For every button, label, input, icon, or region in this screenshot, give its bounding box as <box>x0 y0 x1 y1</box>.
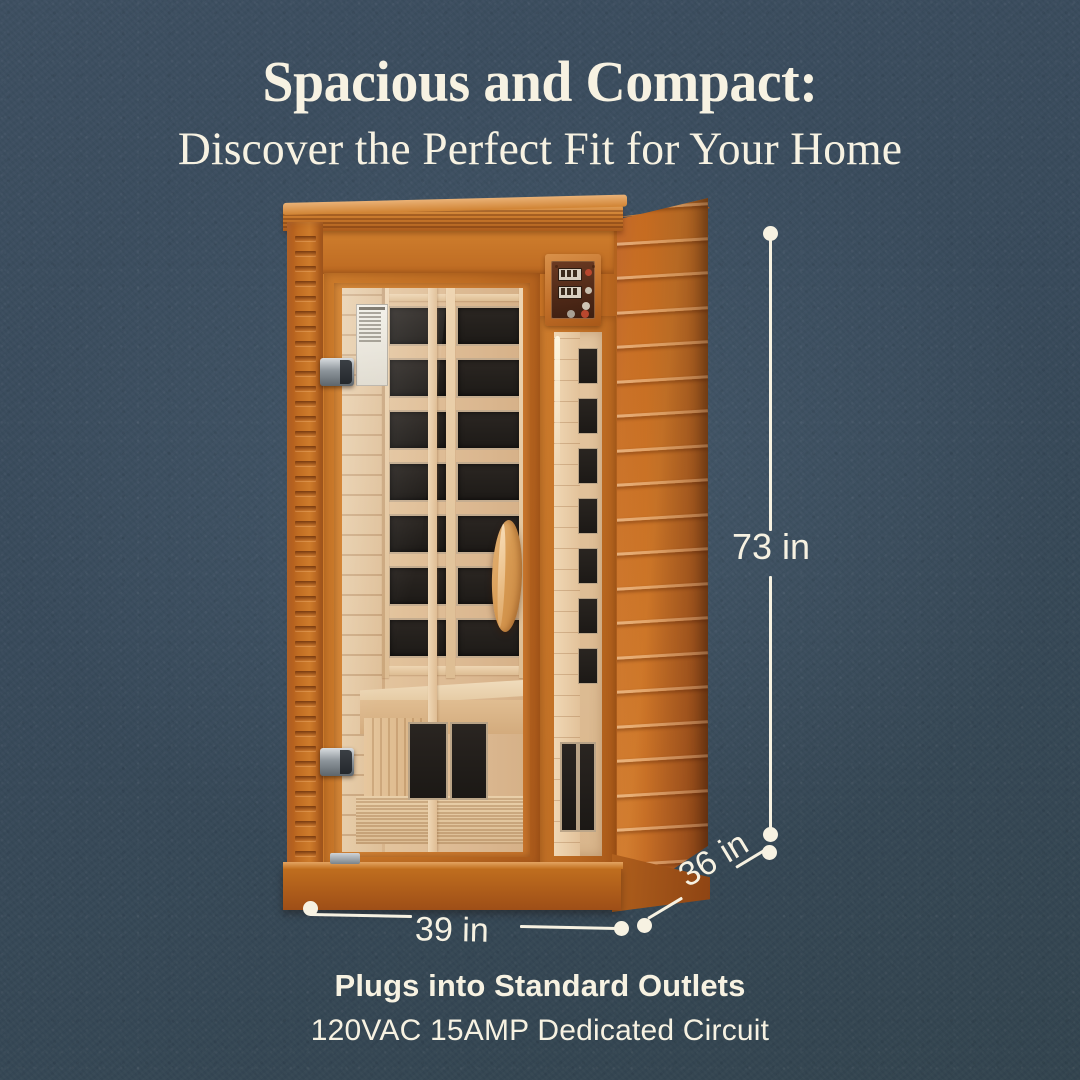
carbon-heater-panel <box>388 618 448 658</box>
door-latch <box>330 853 360 864</box>
side-window-heater-panel <box>578 598 598 634</box>
left-post-notch <box>295 311 316 316</box>
crown-groove <box>283 222 623 224</box>
side-window-plank-line <box>554 674 580 675</box>
floor-slat <box>356 832 523 834</box>
interior-wall-plank-line <box>342 294 382 296</box>
height-dim-line-upper <box>769 233 772 531</box>
down-button[interactable] <box>581 310 589 318</box>
digital-control-panel[interactable] <box>545 254 601 326</box>
floor-slat <box>356 812 523 814</box>
interior-wall-plank-line <box>342 594 382 596</box>
interior-wall-plank-line <box>342 394 382 396</box>
carbon-heater-panel <box>456 306 522 346</box>
carbon-heater-panel <box>388 358 448 398</box>
left-post-notch <box>295 521 316 526</box>
left-post-notch <box>295 746 316 751</box>
depth-dim-dot-near <box>637 918 652 933</box>
interior-wall-plank-line <box>342 634 382 636</box>
interior-wall-plank-line <box>342 454 382 456</box>
left-post-notch <box>295 656 316 661</box>
page-title: Spacious and Compact: <box>22 52 1059 111</box>
carbon-heater-panel <box>388 306 448 346</box>
left-post-notch <box>295 641 316 646</box>
poster-canvas: Spacious and Compact: Discover the Perfe… <box>0 0 1080 1080</box>
floor-slat <box>356 825 523 827</box>
left-post-notch <box>295 461 316 466</box>
footer-block: Plugs into Standard Outlets 120VAC 15AMP… <box>0 968 1080 1048</box>
interior-wall-plank-line <box>342 654 382 656</box>
footer-headline: Plugs into Standard Outlets <box>0 968 1080 1004</box>
floor-slat <box>356 842 523 844</box>
left-post-notch <box>295 596 316 601</box>
left-post-notch <box>295 446 316 451</box>
side-window-heater-panel <box>578 398 598 434</box>
control-panel-face <box>551 261 595 319</box>
interior-rail <box>385 294 447 301</box>
footer-subtext: 120VAC 15AMP Dedicated Circuit <box>0 1014 1080 1048</box>
left-post-notch <box>295 836 316 841</box>
side-window-heater-panel <box>578 348 598 384</box>
left-post-notch <box>295 551 316 556</box>
sauna-base-plinth <box>283 866 621 910</box>
interior-wall-plank-line <box>342 534 382 536</box>
left-post-notch <box>295 686 316 691</box>
left-post-notch <box>295 506 316 511</box>
side-window-plank-line <box>554 695 580 696</box>
carbon-heater-panel <box>388 462 448 502</box>
side-window-highlight <box>555 336 560 476</box>
page-subtitle: Discover the Perfect Fit for Your Home <box>16 125 1064 175</box>
headline-block: Spacious and Compact: Discover the Perfe… <box>0 52 1080 175</box>
interior-wall-plank-line <box>342 574 382 576</box>
crown-groove <box>283 214 623 216</box>
lower-carbon-heater-panel <box>408 722 448 800</box>
side-window-heater-panel <box>578 548 598 584</box>
lower-carbon-heater-panel <box>450 722 488 800</box>
interior-wall-plank-line <box>342 414 382 416</box>
side-window-plank-line <box>554 569 580 570</box>
left-post-notch <box>295 416 316 421</box>
crown-groove <box>283 218 623 220</box>
left-post-notch <box>295 296 316 301</box>
left-post-notch <box>295 266 316 271</box>
sauna-side-panel <box>612 198 708 910</box>
side-window-plank-line <box>554 842 580 843</box>
floor-slat <box>356 815 523 817</box>
interior-stile <box>446 288 455 678</box>
left-post-notch <box>295 326 316 331</box>
side-window-plank-line <box>554 737 580 738</box>
sauna-left-post <box>287 222 323 902</box>
interior-wall-plank-line <box>342 554 382 556</box>
interior-wall-plank-line <box>342 514 382 516</box>
side-window-plank-line <box>554 653 580 654</box>
depth-dim-dot-far <box>762 845 777 860</box>
left-post-notch <box>295 776 316 781</box>
side-window-lower-heater <box>578 742 596 832</box>
side-window-lower-heater <box>560 742 578 832</box>
left-post-notch <box>295 851 316 856</box>
height-dimension-label: 73 in <box>732 526 810 568</box>
power-button[interactable] <box>585 269 592 276</box>
width-dim-dot-left <box>303 901 318 916</box>
left-post-notch <box>295 476 316 481</box>
left-post-notch <box>295 731 316 736</box>
left-post-notch <box>295 716 316 721</box>
interior-floor-slats <box>356 796 523 844</box>
left-post-notch <box>295 236 316 241</box>
width-dimension-label: 39 in <box>415 910 490 951</box>
carbon-heater-panel <box>456 462 522 502</box>
left-post-notch <box>295 791 316 796</box>
side-window-plank-line <box>554 611 580 612</box>
left-post-notch <box>295 341 316 346</box>
side-window-plank-line <box>554 590 580 591</box>
side-window-plank-line <box>554 632 580 633</box>
floor-slat <box>356 835 523 837</box>
door-hinge-top <box>320 358 354 386</box>
mode-button[interactable] <box>585 287 592 294</box>
light-button[interactable] <box>582 302 590 310</box>
interior-stile <box>519 288 523 678</box>
side-window-glass <box>554 332 602 856</box>
left-post-notch <box>295 701 316 706</box>
left-post-notch <box>295 761 316 766</box>
carbon-heater-panel <box>456 358 522 398</box>
left-post-notch <box>295 281 316 286</box>
left-post-notch <box>295 431 316 436</box>
side-window-plank-line <box>554 506 580 507</box>
left-post-notch <box>295 491 316 496</box>
floor-slat <box>356 805 523 807</box>
left-post-notch <box>295 581 316 586</box>
height-dim-dot-bottom <box>763 827 778 842</box>
temperature-display <box>558 268 582 281</box>
left-post-notch <box>295 806 316 811</box>
floor-slat <box>356 801 523 803</box>
left-post-notch <box>295 611 316 616</box>
side-window-plank-line <box>554 548 580 549</box>
carbon-heater-panel <box>388 566 448 606</box>
interior-wall-plank-line <box>342 614 382 616</box>
interior-rail <box>453 666 521 675</box>
height-dim-line-lower <box>769 576 772 834</box>
door-hinge-bottom <box>320 748 354 776</box>
side-window-plank-line <box>554 716 580 717</box>
left-post-notch <box>295 401 316 406</box>
crown-groove <box>283 226 623 228</box>
side-window-heater-panel <box>578 448 598 484</box>
floor-slat <box>356 808 523 810</box>
carbon-heater-panel <box>388 514 448 554</box>
carbon-heater-panel <box>456 410 522 450</box>
floor-slat <box>356 839 523 841</box>
product-label-sticker <box>356 304 388 386</box>
carbon-heater-panel <box>388 410 448 450</box>
left-post-notch <box>295 566 316 571</box>
floor-slat <box>356 829 523 831</box>
left-post-notch <box>295 821 316 826</box>
side-window-heater-panel <box>578 648 598 684</box>
floor-slat <box>356 822 523 824</box>
left-post-notch <box>295 371 316 376</box>
left-post-notch <box>295 626 316 631</box>
interior-rail <box>453 294 521 301</box>
side-window-plank-line <box>554 527 580 528</box>
timer-display <box>558 286 582 299</box>
left-post-notch <box>295 251 316 256</box>
interior-wall-plank-line <box>342 474 382 476</box>
left-post-notch <box>295 386 316 391</box>
left-post-notch <box>295 536 316 541</box>
interior-rail <box>385 666 447 675</box>
sauna-door-glass <box>342 288 523 852</box>
side-window-heater-panel <box>578 498 598 534</box>
floor-slat <box>356 818 523 820</box>
side-window-plank-line <box>554 485 580 486</box>
up-button[interactable] <box>567 310 575 318</box>
left-post-notch <box>295 356 316 361</box>
height-dim-dot-top <box>763 226 778 241</box>
interior-wall-plank-line <box>342 434 382 436</box>
interior-wall-plank-line <box>342 674 382 676</box>
left-post-notch <box>295 671 316 676</box>
interior-wall-plank-line <box>342 494 382 496</box>
width-dim-dot-right <box>614 921 629 936</box>
